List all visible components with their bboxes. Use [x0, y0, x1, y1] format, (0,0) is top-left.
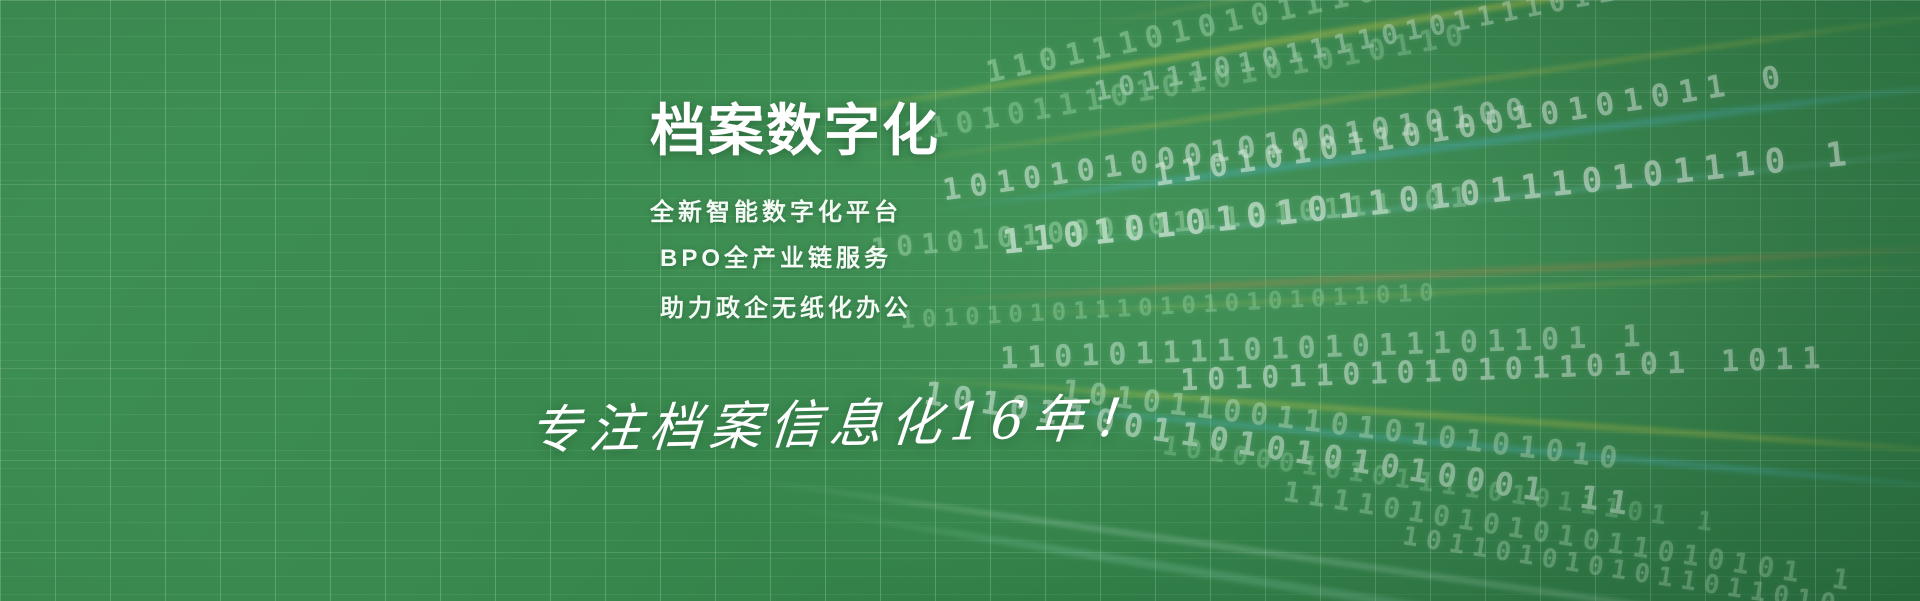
binary-digit-stream: 1010101000101001010100 [940, 91, 1534, 209]
binary-digit-stream: 1011010101011011010 [1400, 521, 1845, 601]
binary-digit-stream: 1010001010111101011101 1 [1161, 431, 1723, 539]
light-ray [880, 240, 1920, 307]
vertical-grid-lines [0, 0, 1920, 601]
binary-digit-stream: 110101011010010101011 0 [1151, 58, 1792, 194]
banner-text-block: 档案数字化 全新智能数字化平台 BPO全产业链服务 助力政企无纸化办公 专注档案… [0, 0, 1920, 601]
binary-digit-stream: 111101010101011010101 1 [1281, 475, 1860, 598]
banner-subtitle-3: 助力政企无纸化办公 [660, 288, 912, 323]
vignette-overlay [0, 0, 1920, 601]
light-ray [700, 470, 1920, 601]
light-ray [820, 0, 1920, 175]
binary-digit-stream: 1010101011101010101011010 [900, 278, 1442, 334]
banner-headline: 档案数字化 [650, 100, 940, 162]
binary-digit-stream: 101010100010111010111 01 [870, 180, 1477, 266]
light-ray [920, 260, 1920, 322]
banner-subtitle-1: 全新智能数字化平台 [650, 192, 902, 227]
light-ray [759, 498, 1920, 601]
hero-banner: 1101110101011101011101101110101111010111… [0, 0, 1920, 601]
light-ray [1050, 0, 1920, 35]
binary-digit-stream: 1101011101010101010110 [901, 16, 1474, 149]
banner-script-tagline: 专注档案信息化16年！ [526, 375, 1156, 463]
binary-digit-stream: 11010101010110101110101110 1 [1000, 133, 1858, 263]
horizontal-grid-lines [0, 0, 1920, 601]
banner-subtitle-2: BPO全产业链服务 [660, 238, 892, 273]
horizontal-major-grid-lines [0, 0, 1920, 601]
binary-digit-stream: 1101110101011101011101 [983, 0, 1573, 91]
binary-digit-stream: 1101011110101011101101 1 [1000, 319, 1650, 377]
binary-digit-stream: 1010110101010110101 1011 [1180, 341, 1830, 399]
light-ray [900, 70, 1920, 218]
light-ray [980, 140, 1920, 255]
binary-digit-stream: 1011101011110101111011 [1092, 0, 1624, 108]
